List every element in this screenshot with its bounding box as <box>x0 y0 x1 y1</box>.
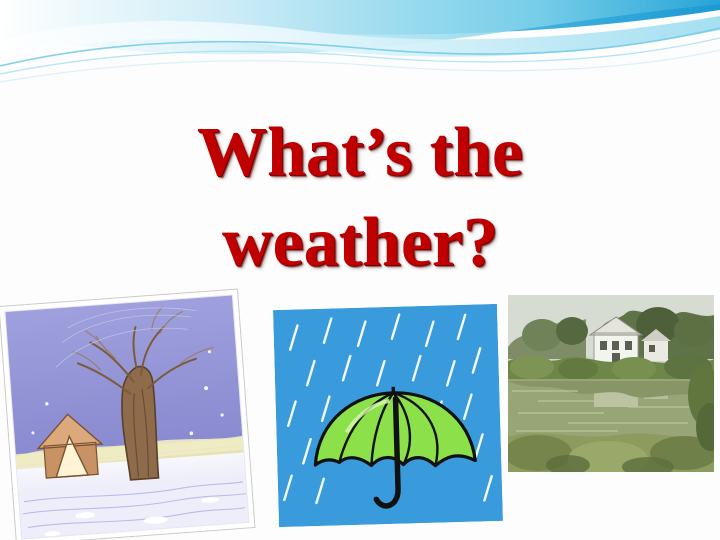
slide: What’s the weather? <box>0 0 720 540</box>
winter-tree-snow-picture <box>0 290 254 540</box>
title-line-1: What’s the <box>0 108 720 198</box>
title-line-2: weather? <box>0 198 720 288</box>
decorative-wave-banner <box>0 0 720 86</box>
page-title: What’s the weather? <box>0 108 720 287</box>
rain-umbrella-picture <box>273 304 503 527</box>
house-by-lake-picture <box>508 295 714 472</box>
